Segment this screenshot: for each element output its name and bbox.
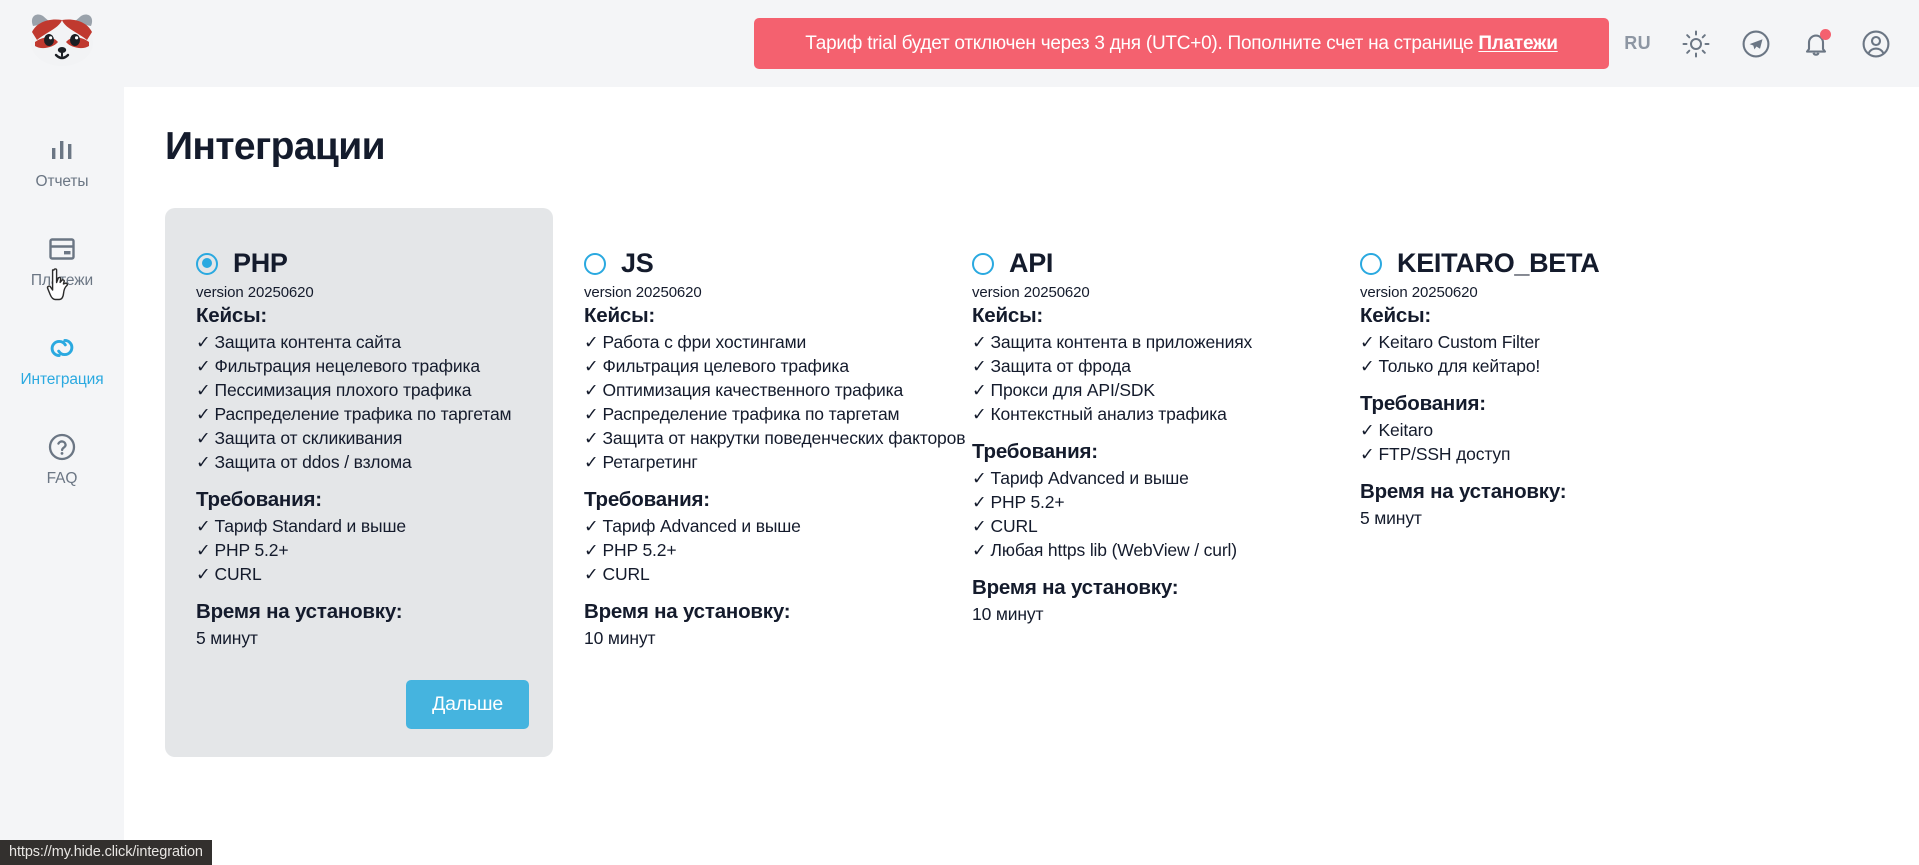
main-content: Интеграции PHPversion 20250620Кейсы:✓Защ…	[124, 87, 1919, 865]
requirement-item: ✓CURL	[196, 563, 529, 587]
case-item-label: Защита контента в приложениях	[991, 332, 1253, 352]
notification-badge	[1820, 29, 1831, 40]
radio-js[interactable]	[584, 253, 606, 275]
language-switcher[interactable]: RU	[1624, 33, 1651, 54]
check-icon: ✓	[196, 428, 211, 448]
check-icon: ✓	[196, 332, 211, 352]
app-logo[interactable]	[23, 10, 101, 72]
requirements-heading: Требования:	[972, 440, 1305, 464]
requirement-item: ✓PHP 5.2+	[972, 491, 1305, 515]
case-item-label: Распределение трафика по таргетам	[603, 404, 900, 424]
card-header: PHP	[196, 250, 529, 277]
card-title: JS	[621, 250, 653, 277]
card-version: version 20250620	[1360, 284, 1693, 301]
sidebar-item-faq[interactable]: FAQ	[0, 421, 124, 494]
link-chain-icon	[46, 332, 78, 364]
case-item: ✓Защита от накрутки поведенческих фактор…	[584, 427, 917, 451]
case-item-label: Защита от фрода	[991, 356, 1131, 376]
check-icon: ✓	[584, 516, 599, 536]
case-item: ✓Работа с фри хостингами	[584, 331, 917, 355]
case-item-label: Пессимизация плохого трафика	[215, 380, 472, 400]
requirement-item: ✓PHP 5.2+	[196, 539, 529, 563]
check-icon: ✓	[972, 468, 987, 488]
install-time-value: 5 минут	[196, 627, 529, 651]
check-icon: ✓	[584, 380, 599, 400]
requirement-item: ✓FTP/SSH доступ	[1360, 443, 1693, 467]
requirement-item-label: Тариф Advanced и выше	[991, 468, 1189, 488]
case-item: ✓Ретагретинг	[584, 451, 917, 475]
check-icon: ✓	[584, 332, 599, 352]
status-bar-url: https://my.hide.click/integration	[0, 840, 212, 865]
case-item-label: Фильтрация целевого трафика	[603, 356, 849, 376]
check-icon: ✓	[584, 540, 599, 560]
case-item: ✓Распределение трафика по таргетам	[196, 403, 529, 427]
integration-card-api[interactable]: APIversion 20250620Кейсы:✓Защита контент…	[941, 208, 1329, 653]
requirements-heading: Требования:	[1360, 392, 1693, 416]
case-item-label: Защита от скликивания	[215, 428, 403, 448]
install-time-value: 10 минут	[584, 627, 917, 651]
card-header: API	[972, 250, 1305, 277]
integration-card-js[interactable]: JSversion 20250620Кейсы:✓Работа с фри хо…	[553, 208, 941, 677]
requirement-item-label: CURL	[603, 564, 650, 584]
requirement-item: ✓Keitaro	[1360, 419, 1693, 443]
case-item-label: Защита от накрутки поведенческих факторо…	[603, 428, 966, 448]
card-title: PHP	[233, 250, 288, 277]
install-time-heading: Время на установку:	[1360, 480, 1693, 504]
requirement-item-label: Тариф Advanced и выше	[603, 516, 801, 536]
telegram-icon[interactable]	[1741, 29, 1771, 59]
sun-icon[interactable]	[1681, 29, 1711, 59]
case-item: ✓Защита контента в приложениях	[972, 331, 1305, 355]
install-time-heading: Время на установку:	[196, 600, 529, 624]
check-icon: ✓	[972, 492, 987, 512]
requirements-heading: Требования:	[196, 488, 529, 512]
case-item: ✓Keitaro Custom Filter	[1360, 331, 1693, 355]
sidebar-item-label: Отчеты	[36, 173, 89, 191]
requirement-item-label: Любая https lib (WebView / curl)	[991, 540, 1237, 560]
install-time-value: 5 минут	[1360, 507, 1693, 531]
banner-payments-link[interactable]: Платежи	[1478, 33, 1557, 54]
page-title: Интеграции	[165, 125, 1919, 169]
integration-card-keitaro_beta[interactable]: KEITARO_BETAversion 20250620Кейсы:✓Keita…	[1329, 208, 1717, 557]
case-item-label: Только для кейтаро!	[1379, 356, 1541, 376]
case-item-label: Оптимизация качественного трафика	[603, 380, 904, 400]
requirement-item-label: PHP 5.2+	[215, 540, 289, 560]
integration-card-php[interactable]: PHPversion 20250620Кейсы:✓Защита контент…	[165, 208, 553, 757]
check-icon: ✓	[584, 404, 599, 424]
case-item: ✓Защита от скликивания	[196, 427, 529, 451]
top-header: Тариф trial будет отключен через 3 дня (…	[124, 0, 1919, 87]
case-item: ✓Оптимизация качественного трафика	[584, 379, 917, 403]
requirement-item-label: PHP 5.2+	[603, 540, 677, 560]
card-version: version 20250620	[972, 284, 1305, 301]
bar-chart-icon	[46, 134, 78, 166]
sidebar-item-label: Интеграция	[20, 371, 103, 389]
cases-heading: Кейсы:	[584, 304, 917, 328]
check-icon: ✓	[972, 356, 987, 376]
case-item-label: Keitaro Custom Filter	[1379, 332, 1540, 352]
user-circle-icon[interactable]	[1861, 29, 1891, 59]
check-icon: ✓	[196, 564, 211, 584]
radio-keitaro_beta[interactable]	[1360, 253, 1382, 275]
check-icon: ✓	[972, 380, 987, 400]
check-icon: ✓	[584, 428, 599, 448]
requirement-item: ✓Тариф Advanced и выше	[972, 467, 1305, 491]
card-header: JS	[584, 250, 917, 277]
requirement-item: ✓CURL	[584, 563, 917, 587]
check-icon: ✓	[196, 356, 211, 376]
cases-heading: Кейсы:	[196, 304, 529, 328]
case-item: ✓Защита от ddos / взлома	[196, 451, 529, 475]
check-icon: ✓	[972, 332, 987, 352]
case-item: ✓Защита контента сайта	[196, 331, 529, 355]
integration-cards: PHPversion 20250620Кейсы:✓Защита контент…	[165, 208, 1919, 757]
case-item: ✓Фильтрация нецелевого трафика	[196, 355, 529, 379]
case-item-label: Прокси для API/SDK	[991, 380, 1155, 400]
case-item-label: Защита от ddos / взлома	[215, 452, 412, 472]
case-item: ✓Распределение трафика по таргетам	[584, 403, 917, 427]
credit-card-icon	[46, 233, 78, 265]
check-icon: ✓	[584, 564, 599, 584]
sidebar-item-platezhi[interactable]: Платежи	[0, 223, 124, 296]
cases-heading: Кейсы:	[972, 304, 1305, 328]
check-icon: ✓	[972, 404, 987, 424]
requirement-item-label: CURL	[991, 516, 1038, 536]
banner-message: Тариф trial будет отключен через 3 дня (…	[805, 33, 1478, 54]
question-circle-icon	[46, 431, 78, 463]
check-icon: ✓	[1360, 444, 1375, 464]
requirement-item-label: Тариф Standard и выше	[215, 516, 406, 536]
case-item: ✓Прокси для API/SDK	[972, 379, 1305, 403]
check-icon: ✓	[196, 380, 211, 400]
install-time-heading: Время на установку:	[584, 600, 917, 624]
install-time-value: 10 минут	[972, 603, 1305, 627]
requirements-heading: Требования:	[584, 488, 917, 512]
sidebar-item-integraciya[interactable]: Интеграция	[0, 322, 124, 395]
requirement-item-label: PHP 5.2+	[991, 492, 1065, 512]
case-item-label: Работа с фри хостингами	[603, 332, 807, 352]
sidebar-item-otchety[interactable]: Отчеты	[0, 124, 124, 197]
sidebar-item-label: Платежи	[31, 272, 93, 290]
raccoon-logo-icon	[23, 10, 101, 72]
check-icon: ✓	[972, 516, 987, 536]
check-icon: ✓	[972, 540, 987, 560]
radio-php[interactable]	[196, 253, 218, 275]
card-version: version 20250620	[196, 284, 529, 301]
case-item: ✓Контекстный анализ трафика	[972, 403, 1305, 427]
bell-icon[interactable]	[1801, 29, 1831, 59]
check-icon: ✓	[1360, 356, 1375, 376]
radio-api[interactable]	[972, 253, 994, 275]
app-root: Отчеты Платежи	[0, 0, 1919, 865]
requirement-item: ✓Любая https lib (WebView / curl)	[972, 539, 1305, 563]
requirement-item-label: Keitaro	[1379, 420, 1433, 440]
cases-heading: Кейсы:	[1360, 304, 1693, 328]
requirement-item-label: FTP/SSH доступ	[1379, 444, 1511, 464]
banner-text: Тариф trial будет отключен через 3 дня (…	[805, 33, 1557, 55]
card-actions: Дальше	[196, 680, 529, 729]
check-icon: ✓	[196, 516, 211, 536]
case-item: ✓Фильтрация целевого трафика	[584, 355, 917, 379]
card-header: KEITARO_BETA	[1360, 250, 1693, 277]
requirement-item: ✓Тариф Advanced и выше	[584, 515, 917, 539]
requirement-item: ✓PHP 5.2+	[584, 539, 917, 563]
sidebar: Отчеты Платежи	[0, 0, 124, 865]
requirement-item-label: CURL	[215, 564, 262, 584]
case-item-label: Защита контента сайта	[215, 332, 401, 352]
case-item-label: Фильтрация нецелевого трафика	[215, 356, 480, 376]
install-time-heading: Время на установку:	[972, 576, 1305, 600]
case-item: ✓Защита от фрода	[972, 355, 1305, 379]
check-icon: ✓	[1360, 332, 1375, 352]
card-title: API	[1009, 250, 1053, 277]
card-version: version 20250620	[584, 284, 917, 301]
case-item: ✓Только для кейтаро!	[1360, 355, 1693, 379]
sidebar-nav: Отчеты Платежи	[0, 124, 124, 520]
requirement-item: ✓Тариф Standard и выше	[196, 515, 529, 539]
check-icon: ✓	[196, 540, 211, 560]
trial-warning-banner: Тариф trial будет отключен через 3 дня (…	[754, 18, 1609, 69]
case-item-label: Ретагретинг	[603, 452, 698, 472]
check-icon: ✓	[196, 404, 211, 424]
next-button[interactable]: Дальше	[406, 680, 529, 729]
case-item-label: Контекстный анализ трафика	[991, 404, 1227, 424]
check-icon: ✓	[584, 356, 599, 376]
check-icon: ✓	[196, 452, 211, 472]
check-icon: ✓	[584, 452, 599, 472]
requirement-item: ✓CURL	[972, 515, 1305, 539]
card-title: KEITARO_BETA	[1397, 250, 1599, 277]
sidebar-item-label: FAQ	[47, 470, 78, 488]
case-item-label: Распределение трафика по таргетам	[215, 404, 512, 424]
case-item: ✓Пессимизация плохого трафика	[196, 379, 529, 403]
header-tools: RU	[1624, 29, 1891, 59]
check-icon: ✓	[1360, 420, 1375, 440]
